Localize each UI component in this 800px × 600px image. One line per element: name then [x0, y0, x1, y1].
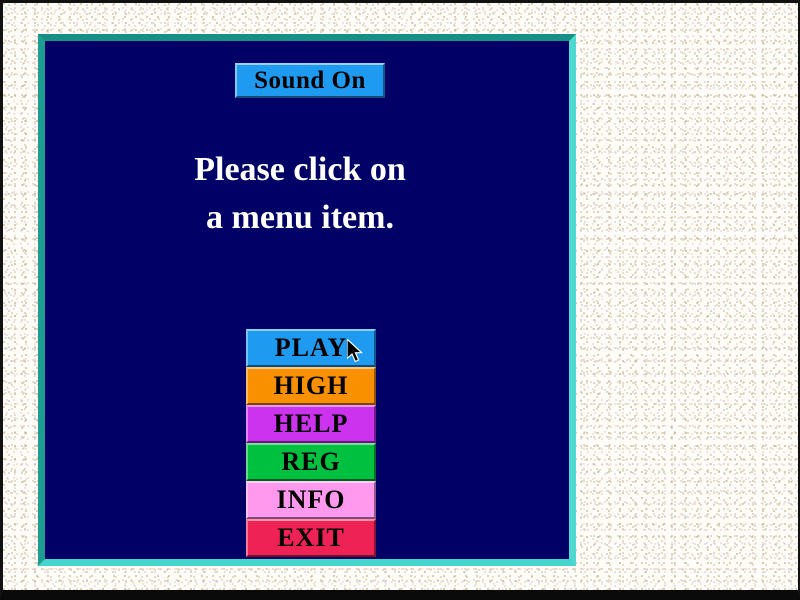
sound-toggle-button[interactable]: Sound On — [235, 63, 385, 98]
game-panel: Sound On Please click on a menu item. PL… — [38, 34, 576, 566]
instruction-line-2: a menu item. — [45, 194, 555, 242]
menu-item-exit[interactable]: EXIT — [246, 519, 376, 557]
app-window: Sound On Please click on a menu item. PL… — [0, 0, 800, 600]
menu-item-reg[interactable]: REG — [246, 443, 376, 481]
menu-item-info[interactable]: INFO — [246, 481, 376, 519]
instruction-line-1: Please click on — [45, 146, 555, 194]
menu-item-play[interactable]: PLAY — [246, 329, 376, 367]
main-menu: PLAY HIGH HELP REG INFO EXIT — [246, 329, 376, 557]
menu-item-help[interactable]: HELP — [246, 405, 376, 443]
instruction-message: Please click on a menu item. — [45, 146, 555, 242]
menu-item-high[interactable]: HIGH — [246, 367, 376, 405]
